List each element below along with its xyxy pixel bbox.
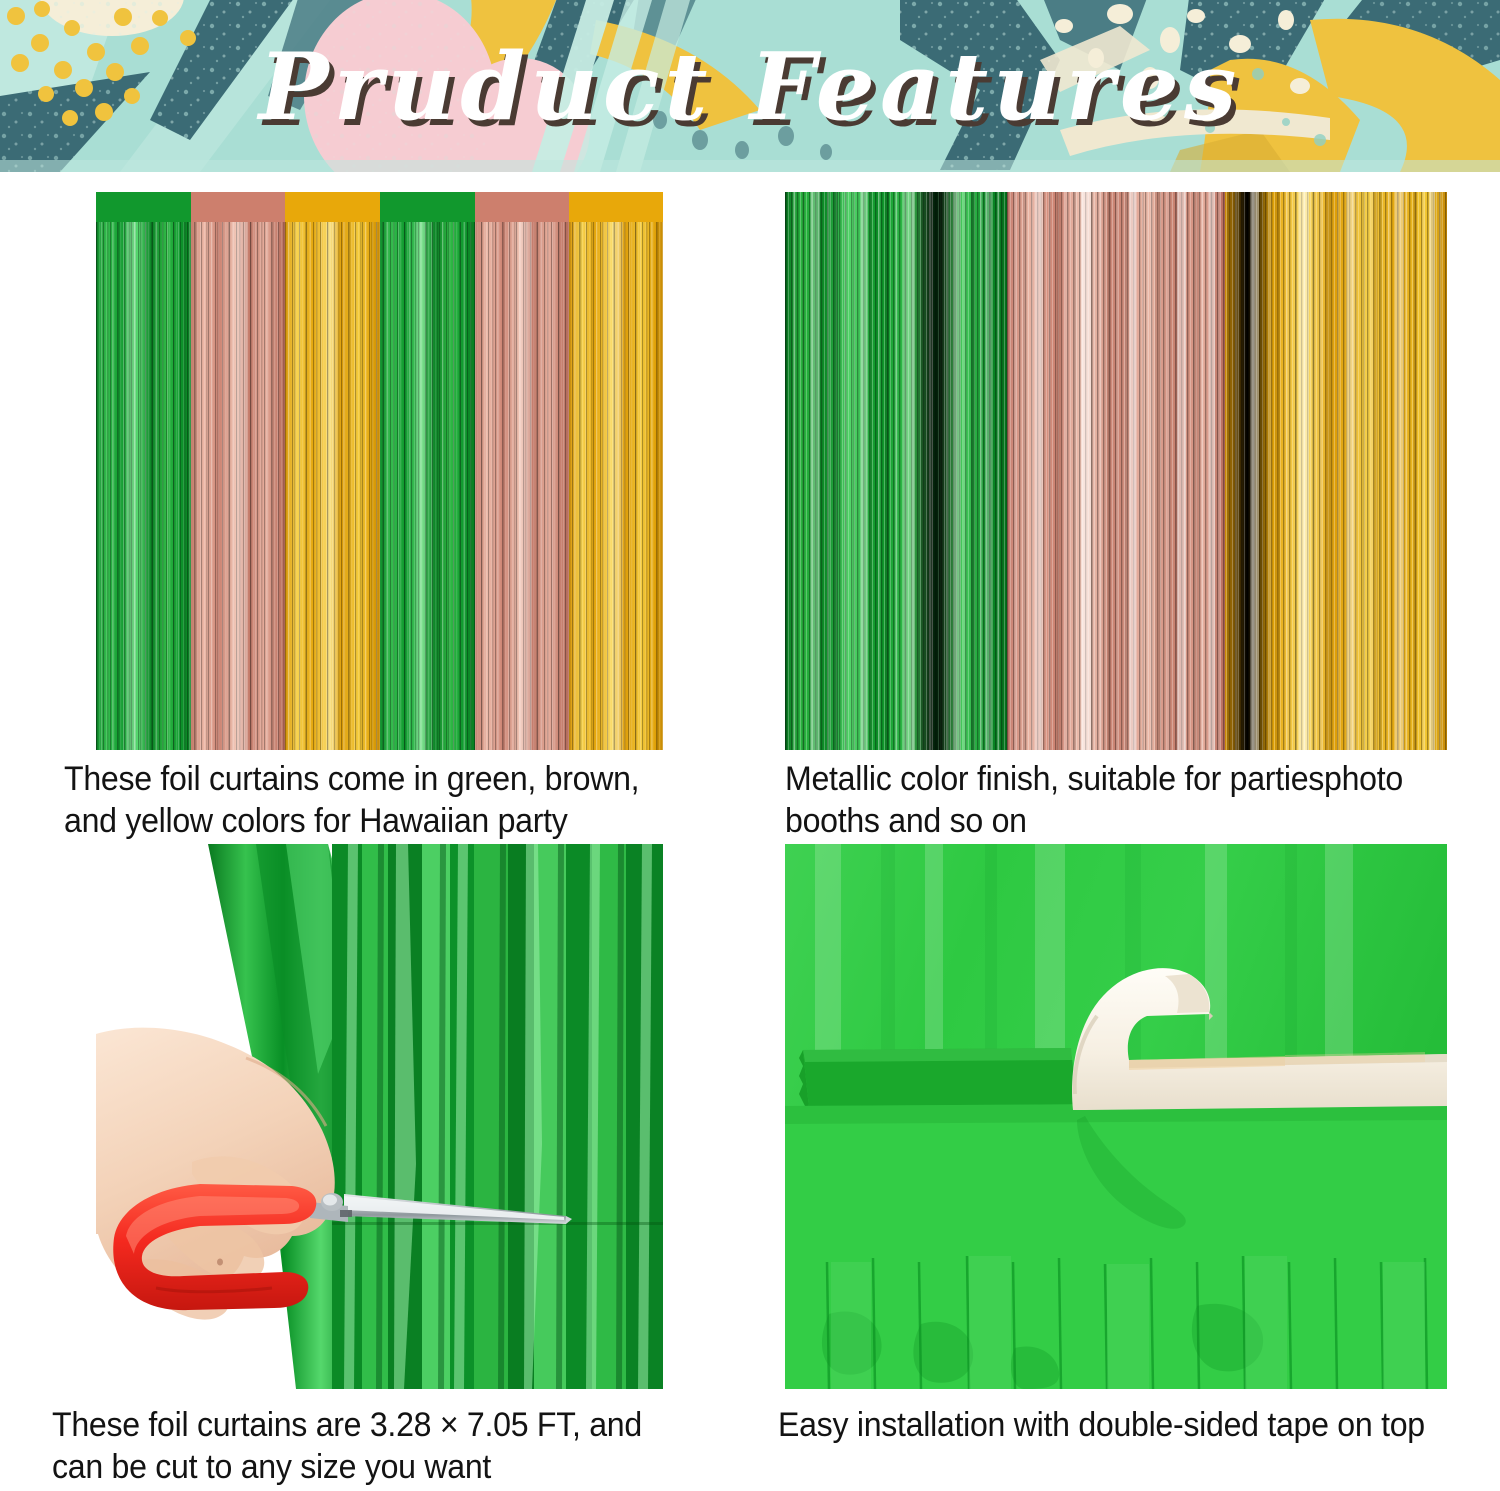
feature-caption-metallic-finish: Metallic color finish, suitable for part… [785, 758, 1427, 843]
six-panel-foil-curtain-photo [96, 192, 663, 750]
tape-on-top-graphic [785, 844, 1447, 1389]
closeup-panel-green [785, 192, 1007, 750]
page-title: Pruduct Features [0, 0, 1500, 172]
feature-caption-cuttable-size: These foil curtains are 3.28 × 7.05 FT, … [52, 1404, 666, 1489]
curtain-panel-green-2 [380, 192, 475, 750]
scissors-cutting-foil-photo [96, 844, 663, 1389]
feature-caption-colors: These foil curtains come in green, brown… [64, 758, 659, 843]
header-banner: Pruduct Features [0, 0, 1500, 172]
foil-closeup-three-panel-graphic [785, 192, 1447, 750]
green-tape-band [799, 1048, 1077, 1108]
metallic-foil-closeup-photo [785, 192, 1447, 750]
foil-curtain-six-panel-graphic [96, 192, 663, 750]
closeup-panel-gold [1225, 192, 1447, 750]
closeup-panel-rose [1007, 192, 1225, 750]
scissors-cutting-graphic [96, 844, 663, 1389]
feature-caption-easy-install: Easy installation with double-sided tape… [778, 1404, 1429, 1446]
double-sided-tape-photo [785, 844, 1447, 1389]
curtain-panel-green-1 [96, 192, 191, 750]
